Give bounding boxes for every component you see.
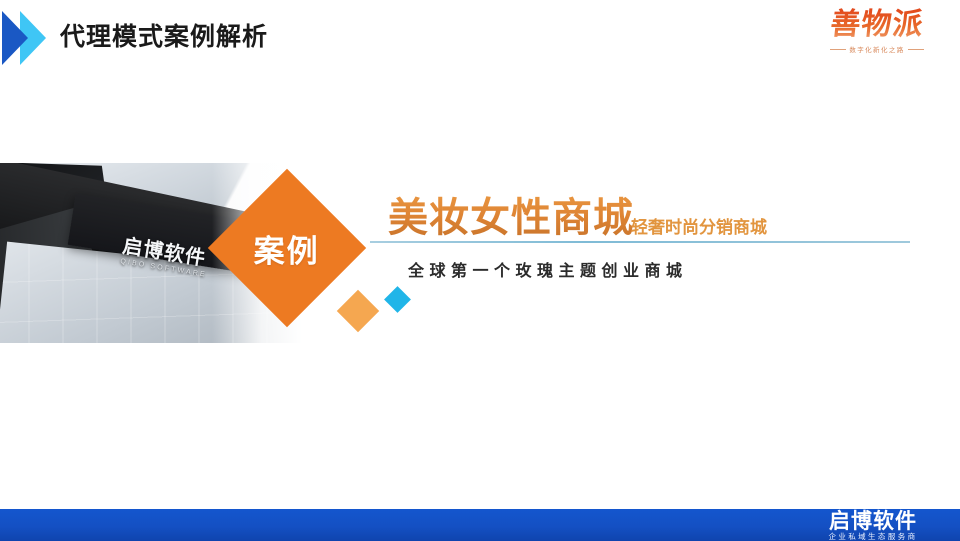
page-title: 代理模式案例解析 <box>60 17 268 53</box>
case-title: 美妆女性商城 <box>388 196 634 240</box>
case-subtitle: 全球第一个玫瑰主题创业商城 <box>408 257 688 281</box>
title-divider <box>370 241 910 243</box>
slide-canvas: 代理模式案例解析 善物派 数字化新化之路 启博软件 QIBO SOFTWARE … <box>0 0 960 541</box>
arrow-right-dark-icon <box>2 11 28 65</box>
slide-header: 代理模式案例解析 <box>0 0 960 75</box>
decor-diamond-cyan-icon <box>384 286 411 313</box>
case-title-tagline: 轻奢时尚分销商城 <box>631 218 767 238</box>
footer-logo-tagline: 企业私域生态服务商 <box>808 532 938 541</box>
brand-logo: 善物派 数字化新化之路 <box>822 8 932 66</box>
header-arrow-group <box>2 8 62 68</box>
brand-logo-text: 善物派 <box>820 8 934 42</box>
case-badge-label: 案例 <box>254 226 320 271</box>
decor-diamond-orange-icon <box>337 290 379 332</box>
footer-logo: 启博软件 企业私域生态服务商 <box>808 509 938 541</box>
brand-logo-tagline: 数字化新化之路 <box>822 44 932 54</box>
footer-logo-text: 启博软件 <box>808 510 938 532</box>
